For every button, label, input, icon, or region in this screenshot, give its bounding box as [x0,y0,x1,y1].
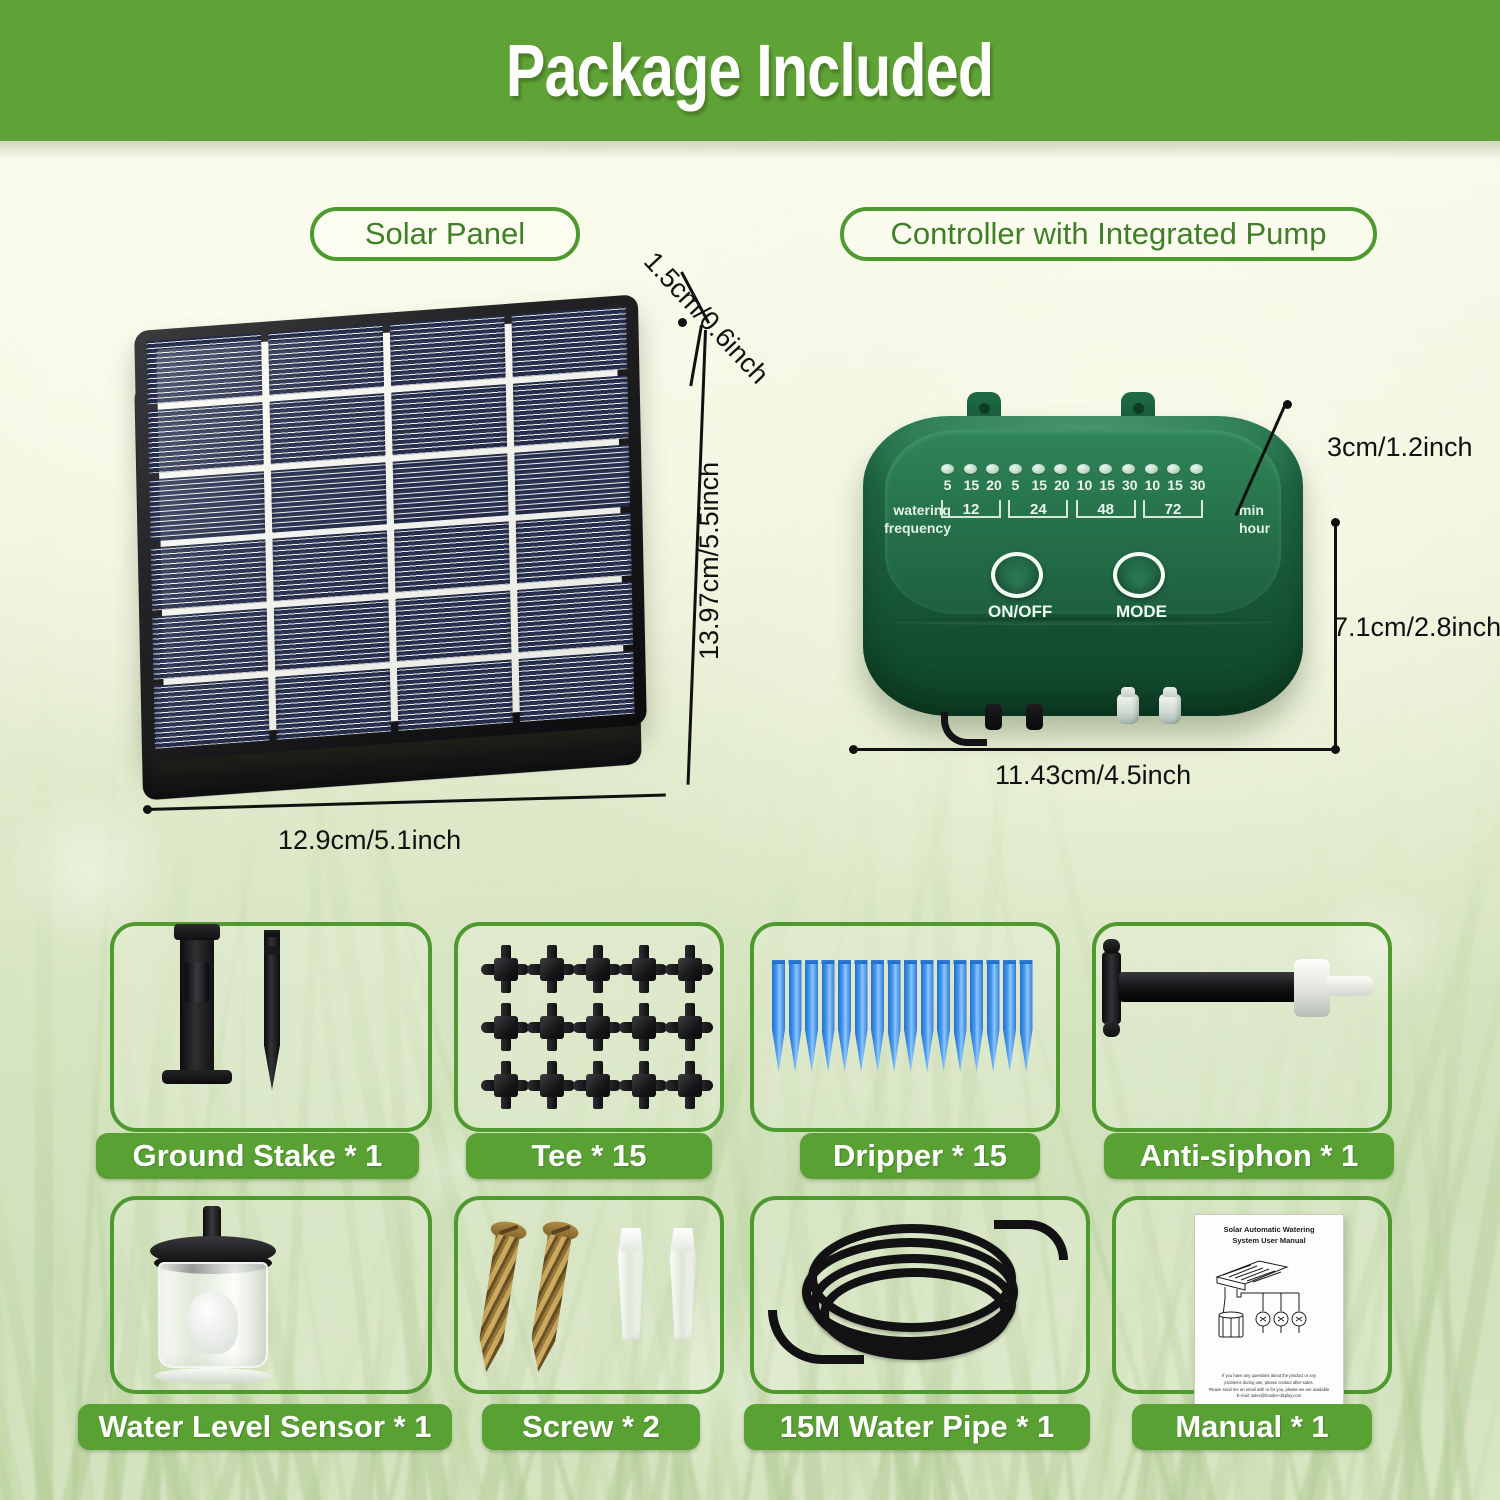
tee-fitting-grid [482,940,696,1114]
accessory-label-anti-siphon: Anti-siphon * 1 [1104,1133,1394,1179]
accessory-label-water-pipe: 15M Water Pipe * 1 [744,1404,1090,1450]
led-minute-label: 15 [1167,477,1180,493]
sensor-port-left [985,704,1002,730]
manual-title-line1: Solar Automatic Watering [1203,1224,1335,1235]
sensor-port-right [1026,704,1043,730]
water-outlet-nozzle-left [1117,694,1139,724]
solar-cell [394,522,510,593]
controller-body: watering frequency 515205152010153010153… [863,416,1303,716]
solar-cell [149,471,265,542]
solar-cell [519,651,635,722]
solar-cell [152,609,268,680]
solar-cell [516,513,632,584]
dripper-stake [871,960,884,1072]
screw-shaft-1 [474,1234,519,1374]
led-indicator [1190,464,1203,474]
hour-group: 24 [1008,498,1068,520]
tee-fitting [574,1004,620,1050]
led-indicator [1099,464,1112,474]
accessory-card-water-level-sensor [110,1196,432,1394]
solar-cell [271,462,387,533]
coil-tail-left [768,1310,864,1364]
solar-cell [151,540,267,611]
solar-cell [513,375,629,446]
solar-cell [390,315,506,386]
product-infographic: Package Included Solar Panel Controller … [0,0,1500,1500]
accessory-card-ground-stake [110,922,432,1132]
controller-image: watering frequency 515205152010153010153… [855,380,1335,740]
dripper-stake [888,960,901,1072]
water-outlet-nozzle-right [1159,694,1181,724]
led-indicator [1054,464,1067,474]
solar-cell [517,582,633,653]
controller-width-dim: 11.43cm/4.5inch [995,760,1191,791]
dripper-stake [838,960,851,1072]
dripper-stake [855,960,868,1072]
controller-seam [877,618,1289,625]
tee-fitting [666,1062,712,1108]
led-minute-label: 30 [1122,477,1135,493]
hour-group: 48 [1076,498,1136,520]
solar-cell [272,531,388,602]
tee-fitting [620,946,666,992]
solar-cell [395,591,511,662]
led-minute-label: 30 [1190,477,1203,493]
solar-cell [514,444,630,515]
ground-stake-spike [264,930,280,1090]
manual-footer-line4: E-mail: sales@houder-display.com [1203,1393,1335,1400]
tee-fitting [666,946,712,992]
anti-siphon-valve [1294,959,1330,1017]
controller-width-leader [852,748,1338,751]
ground-stake-base [180,934,214,1074]
solar-width-dim: 12.9cm/5.1inch [278,825,461,856]
manual-footer-line1: If you have any questions about the prod… [1203,1373,1335,1380]
anti-siphon-tube [1119,972,1301,1002]
hour-group: 72 [1143,498,1203,520]
led-indicator [1145,464,1158,474]
controller-width-dot-b [1331,745,1340,754]
screw-shaft-2 [526,1234,571,1374]
controller-depth-dot [1283,400,1292,409]
manual-footer-line2: problems during use, please contact afte… [1203,1380,1335,1387]
solar-cell [146,333,262,404]
accessory-card-tee [454,922,724,1132]
solar-panel-top [134,294,647,761]
led-minute-label: 5 [1009,477,1022,493]
tee-fitting [482,1062,528,1108]
solar-width-dot [143,805,152,814]
led-minute-label: 15 [1032,477,1045,493]
controller-height-dot [1331,518,1340,527]
controller-width-dot-a [849,745,858,754]
dripper-stake [822,960,835,1072]
solar-cell [393,453,509,524]
sensor-base [154,1368,272,1384]
led-minute-label: 10 [1077,477,1090,493]
header-banner: Package Included [0,0,1500,141]
accessory-label-dripper: Dripper * 15 [800,1133,1040,1179]
anti-siphon-tip [1326,976,1374,996]
accessory-card-screw [454,1196,724,1394]
dripper-stake [954,960,967,1072]
led-minute-label: 15 [964,477,977,493]
accessory-card-water-pipe [750,1196,1090,1394]
controller-depth-dim: 3cm/1.2inch [1327,432,1473,463]
controller-label-text: Controller with Integrated Pump [891,216,1327,252]
led-indicator [1122,464,1135,474]
dripper-stake [805,960,818,1072]
manual-cover: Solar Automatic Watering System User Man… [1194,1214,1344,1409]
dripper-stake [921,960,934,1072]
manual-footer-line3: Please send me an email with or for you,… [1203,1387,1335,1394]
dripper-stake [772,960,785,1072]
dripper-stake [904,960,917,1072]
led-indicator [941,464,954,474]
solar-cell [274,600,390,671]
led-indicator-block: 5152051520101530101530 12244872 [941,464,1203,520]
time-unit-label: min hour [1239,502,1289,537]
mode-button[interactable] [1113,552,1165,598]
wall-plug-1 [618,1228,644,1340]
accessory-card-dripper [750,922,1060,1132]
accessory-label-manual: Manual * 1 [1132,1404,1372,1450]
screw-2 [526,1220,573,1374]
header-shadow [0,141,1500,159]
manual-title: Solar Automatic Watering System User Man… [1203,1224,1335,1247]
led-row [941,464,1203,474]
dripper-stake [987,960,1000,1072]
solar-cell [268,324,384,395]
solar-cell [275,669,391,740]
led-indicator [964,464,977,474]
led-minute-label: 20 [986,477,999,493]
solar-cell [391,384,507,455]
led-minute-label: 20 [1054,477,1067,493]
accessory-label-tee: Tee * 15 [466,1133,712,1179]
page-title: Package Included [506,28,993,113]
watering-frequency-line2: frequency [883,520,951,538]
manual-diagram [1203,1253,1335,1371]
led-minute-labels: 5152051520101530101530 [941,477,1203,493]
on-off-button[interactable] [991,552,1043,598]
unit-label-min: min [1239,502,1289,520]
dripper-stake [789,960,802,1072]
tee-fitting [528,946,574,992]
solar-height-dim: 13.97cm/5.5inch [694,462,725,660]
led-indicator [986,464,999,474]
tee-fitting [528,1004,574,1050]
solar-cell [397,660,513,731]
on-off-button-label: ON/OFF [988,602,1052,622]
sensor-float [186,1292,238,1354]
solar-panel-label: Solar Panel [310,207,580,261]
tee-fitting [620,1062,666,1108]
tee-fitting [528,1062,574,1108]
tee-fitting [574,1062,620,1108]
led-indicator [1032,464,1045,474]
controller-height-dim: 7.1cm/2.8inch [1333,612,1500,643]
coil-tail-right [994,1220,1068,1260]
tee-fitting [482,1004,528,1050]
controller-label: Controller with Integrated Pump [840,207,1377,261]
led-indicator [1077,464,1090,474]
unit-label-hour: hour [1239,520,1289,538]
dripper-row [772,952,1044,1076]
manual-diagram-svg [1203,1253,1337,1365]
led-minute-label: 5 [941,477,954,493]
screw-1 [474,1220,521,1374]
led-indicator [1009,464,1022,474]
led-indicator [1167,464,1180,474]
accessory-card-anti-siphon [1092,922,1392,1132]
mode-button-label: MODE [1116,602,1167,622]
accessory-label-screw: Screw * 2 [482,1404,700,1450]
dripper-stake [970,960,983,1072]
accessory-card-manual: Solar Automatic Watering System User Man… [1112,1196,1392,1394]
dripper-stake [1020,960,1033,1072]
tee-fitting [574,946,620,992]
tee-fitting [666,1004,712,1050]
accessory-label-ground-stake: Ground Stake * 1 [96,1133,419,1179]
led-minute-label: 15 [1099,477,1112,493]
hour-group-labels: 12244872 [941,498,1203,520]
solar-cell [148,402,264,473]
solar-cell [154,678,270,749]
water-pipe-coil [780,1214,1070,1382]
solar-cell [269,393,385,464]
dripper-stake [937,960,950,1072]
tee-fitting [482,946,528,992]
solar-cell-grid [146,306,634,749]
hour-group: 12 [941,498,1001,520]
solar-panel-image [130,305,700,815]
manual-title-line2: System User Manual [1203,1235,1335,1246]
solar-panel-label-text: Solar Panel [365,216,525,252]
tee-fitting [620,1004,666,1050]
accessory-label-water-level-sensor: Water Level Sensor * 1 [78,1404,452,1450]
dripper-stake [1003,960,1016,1072]
led-minute-label: 10 [1145,477,1158,493]
solar-cell [511,306,627,377]
manual-footer: If you have any questions about the prod… [1203,1373,1335,1400]
wall-plug-2 [670,1228,696,1340]
